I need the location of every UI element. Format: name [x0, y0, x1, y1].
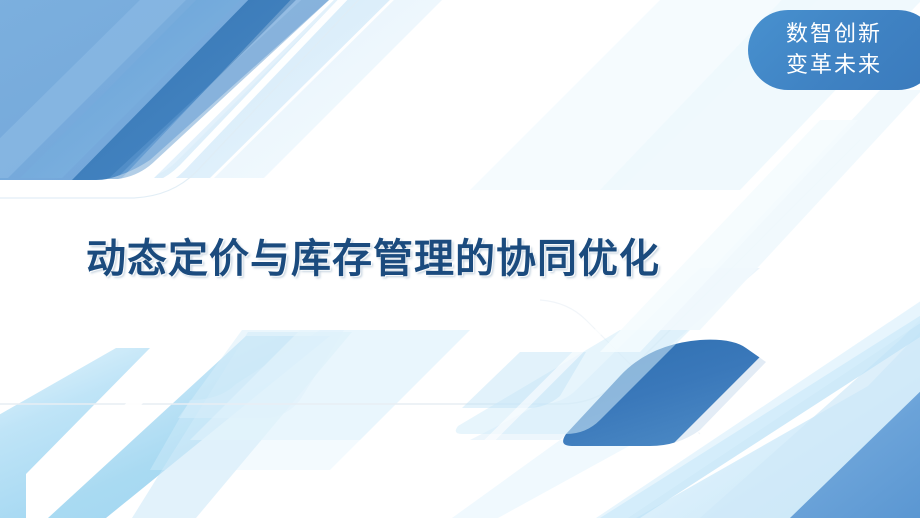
- badge-line-2: 变革未来: [786, 50, 920, 81]
- slide-canvas: 数智创新 变革未来 动态定价与库存管理的协同优化: [0, 0, 920, 518]
- title-container: 动态定价与库存管理的协同优化: [86, 233, 660, 285]
- bottom-center-pale-shape: [150, 330, 470, 470]
- corner-badge: 数智创新 变革未来: [748, 10, 920, 90]
- page-title: 动态定价与库存管理的协同优化: [86, 233, 660, 285]
- badge-line-1: 数智创新: [786, 19, 920, 50]
